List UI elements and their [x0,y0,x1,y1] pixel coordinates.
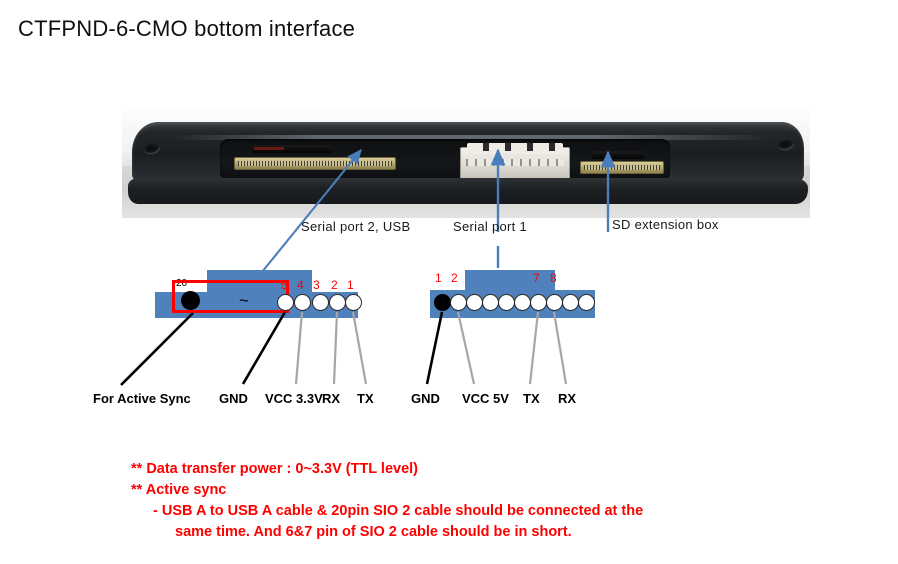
pinlabel-left-vcc-3v3: VCC 3.3V [265,391,323,406]
pinlabel-left-gnd: GND [219,391,248,406]
serial-port-1-pin-row [466,159,564,166]
serial-port-1-pinout-diagram: 1 2 7 8 [430,270,602,322]
left-pin-number-5: 5 [281,278,288,292]
right-connector-upper-block [465,270,555,290]
leader-left-vcc-3v3 [296,312,302,384]
pinlabel-right-tx: TX [523,391,540,406]
left-connector-tilde-symbol: ~ [239,291,249,310]
connector-bay [220,139,670,181]
leader-left-gnd [243,312,285,384]
pinlabel-right-vcc-5v: VCC 5V [462,391,509,406]
left-connector-pin-4 [294,294,311,311]
left-connector-pin-active-sync [181,291,200,310]
serial-port-1-latch-tabs [467,143,563,151]
device-right-screw-hole [777,138,795,151]
leader-left-tx [353,312,366,384]
note-line-active-sync: ** Active sync [131,480,731,501]
sd-extension-box-connector [580,161,664,174]
pinlabel-left-rx: RX [322,391,340,406]
right-connector-pin-4 [482,294,499,311]
right-connector-pin-8 [546,294,563,311]
left-pin-number-1: 1 [347,278,354,292]
callout-label-serial-port-2: Serial port 2, USB [301,219,410,234]
right-pin-number-2: 2 [451,271,458,285]
serial-port-2-slot [252,145,332,153]
right-pin-number-1: 1 [435,271,442,285]
leader-right-vcc-5v [458,312,474,384]
leader-right-tx [530,312,538,384]
left-pin-number-3: 3 [313,278,320,292]
serial-port-2-red-streak [254,147,284,150]
right-connector-pin-3 [466,294,483,311]
left-connector-pin-2 [329,294,346,311]
notes-block: ** Data transfer power : 0~3.3V (TTL lev… [131,459,731,543]
serial-port-2-usb-connector [234,157,396,170]
pinlabel-for-active-sync: For Active Sync [93,391,191,406]
note-line-same-time: same time. And 6&7 pin of SIO 2 cable sh… [131,522,731,543]
pinlabel-right-rx: RX [558,391,576,406]
serial-port-1-connector [460,147,570,181]
left-connector-pin-5 [277,294,294,311]
right-connector-pin-5 [498,294,515,311]
left-connector-pin-3 [312,294,329,311]
callout-label-serial-port-1: Serial port 1 [453,219,527,234]
device-left-screw-hole [143,142,161,155]
page-title: CTFPND-6-CMO bottom interface [18,16,355,42]
right-connector-pin-10 [578,294,595,311]
device-bottom-lip [128,178,808,204]
device-body [132,122,804,182]
note-line-usb-cable: - USB A to USB A cable & 20pin SIO 2 cab… [131,501,731,522]
device-photo [122,110,810,218]
leader-right-gnd [427,312,442,384]
right-connector-pin-2 [450,294,467,311]
sd-extension-slot [592,151,644,159]
callout-label-sd-extension-box: SD extension box [612,217,719,232]
right-pin-number-7: 7 [533,271,540,285]
right-connector-pin-6 [514,294,531,311]
leader-right-rx [554,312,566,384]
left-pin-number-4: 4 [297,278,304,292]
right-connector-pin-1 [434,294,451,311]
right-connector-pin-7 [530,294,547,311]
left-pin-number-2: 2 [331,278,338,292]
left-connector-pin-1 [345,294,362,311]
pinlabel-right-gnd: GND [411,391,440,406]
pinlabel-left-tx: TX [357,391,374,406]
note-line-data-transfer-power: ** Data transfer power : 0~3.3V (TTL lev… [131,459,731,480]
right-pin-number-8: 8 [550,271,557,285]
right-connector-pin-9 [562,294,579,311]
serial-port-2-pinout-diagram: 20 ~ 5 4 3 2 1 [155,270,365,322]
leader-for-active-sync [121,313,193,385]
leader-left-rx [334,312,337,384]
